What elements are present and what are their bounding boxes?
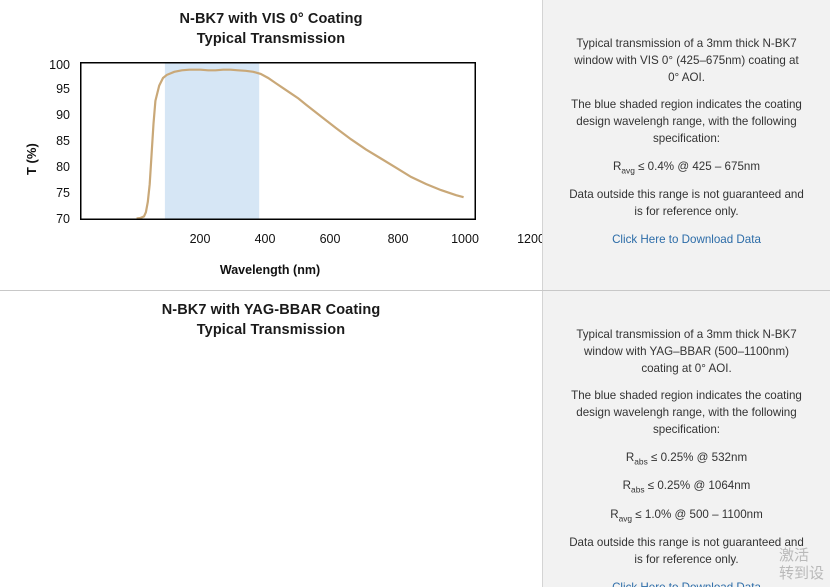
panel-vis-coating: N-BK7 with VIS 0° Coating Typical Transm… [0,0,830,290]
shaded-region-vis [165,62,259,220]
panel-yag-bbar-coating: N-BK7 with YAG-BBAR Coating Typical Tran… [0,291,830,587]
sidebar-vis-coating: Typical transmission of a 3mm thick N-BK… [542,0,830,290]
y-tick-vis-75: 75 [30,186,70,200]
download-data-link-yag[interactable]: Click Here to Download Data [569,580,804,587]
plot-vis [80,62,476,220]
sidebar-yag-paragraph-3: Data outside this range is not guarantee… [569,535,804,569]
page-root: N-BK7 with VIS 0° Coating Typical Transm… [0,0,830,587]
x-tick-vis-600: 600 [310,232,350,246]
y-tick-vis-85: 85 [30,134,70,148]
chart-title-vis-line1: N-BK7 with VIS 0° Coating [179,11,362,27]
sidebar-vis-spec-1: Ravg ≤ 0.4% @ 425 – 675nm [569,159,804,177]
sidebar-yag-bbar: Typical transmission of a 3mm thick N-BK… [542,291,830,587]
chart-title-vis-line2: Typical Transmission [0,30,542,50]
chart-yag-bbar: N-BK7 with YAG-BBAR Coating Typical Tran… [0,291,542,587]
x-tick-vis-1000: 1000 [442,232,488,246]
chart-title-yag-line1: N-BK7 with YAG-BBAR Coating [162,302,381,318]
y-tick-vis-90: 90 [30,108,70,122]
chart-vis-coating: N-BK7 with VIS 0° Coating Typical Transm… [0,0,542,290]
y-tick-vis-95: 95 [30,82,70,96]
sidebar-vis-paragraph-1: Typical transmission of a 3mm thick N-BK… [569,36,804,86]
sidebar-yag-paragraph-2: The blue shaded region indicates the coa… [569,388,804,438]
sidebar-yag-spec-3: Ravg ≤ 1.0% @ 500 – 1100nm [569,507,804,525]
x-tick-vis-400: 400 [245,232,285,246]
chart-title-vis: N-BK7 with VIS 0° Coating Typical Transm… [0,0,542,49]
sidebar-yag-spec-1: Rabs ≤ 0.25% @ 532nm [569,450,804,468]
x-axis-label-vis: Wavelength (nm) [120,263,420,277]
sidebar-vis-paragraph-3: Data outside this range is not guarantee… [569,187,804,221]
chart-title-yag: N-BK7 with YAG-BBAR Coating Typical Tran… [0,291,542,340]
download-data-link-vis[interactable]: Click Here to Download Data [569,232,804,249]
y-tick-vis-70: 70 [30,212,70,226]
y-tick-vis-100: 100 [30,58,70,72]
sidebar-yag-paragraph-1: Typical transmission of a 3mm thick N-BK… [569,327,804,377]
x-tick-vis-200: 200 [180,232,220,246]
chart-title-yag-line2: Typical Transmission [0,321,542,341]
y-tick-vis-80: 80 [30,160,70,174]
sidebar-vis-paragraph-2: The blue shaded region indicates the coa… [569,97,804,147]
x-tick-vis-800: 800 [375,232,421,246]
sidebar-yag-spec-2: Rabs ≤ 0.25% @ 1064nm [569,478,804,496]
